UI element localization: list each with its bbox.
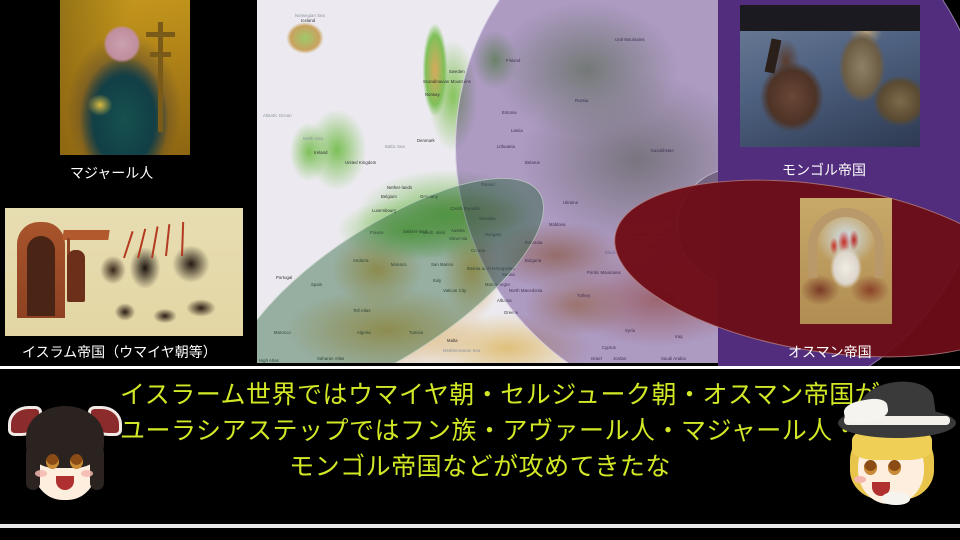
map-label-country: Monte-negro [485, 282, 510, 287]
map-label-country: Iceland [301, 18, 315, 23]
map-label-country: Moldova [549, 222, 566, 227]
map-label-country: Bosnia and Herzegovina [467, 266, 515, 271]
map-label-mountains: Pontic Mountains [587, 270, 621, 275]
eye-right [70, 454, 83, 469]
subtitle-bar: イスラーム世界ではウマイヤ朝・セルジューク朝・オスマン帝国が ユーラシアステップ… [0, 369, 960, 524]
spear-icon [165, 224, 170, 256]
subtitle-line-1: イスラーム世界ではウマイヤ朝・セルジューク朝・オスマン帝国が [120, 377, 840, 413]
map-label-country: Croatia [471, 248, 485, 253]
photo-top-shadow [740, 5, 920, 31]
map-label-country: Ukraine [563, 200, 578, 205]
horse-mane-shape [765, 38, 782, 73]
map-label-country: Nether-lands [387, 185, 412, 190]
map-label-country: Albania [497, 298, 512, 303]
map-label-country: Luxembourg [372, 208, 396, 213]
map-label-country: Spain [311, 282, 322, 287]
patriarchal-cross-icon [158, 22, 163, 132]
map-label-country: Kazakhstan [651, 148, 674, 153]
islamic-empire-manuscript-image[interactable] [5, 208, 243, 336]
magyar-king-portrait-image[interactable] [60, 0, 190, 155]
figure-shape [67, 250, 85, 302]
spear-icon [151, 226, 159, 258]
map-label-country: Turkey [577, 293, 590, 298]
blush-left [854, 476, 866, 483]
eye-left [864, 460, 877, 475]
map-label-country: Lithuania [497, 144, 515, 149]
map-label-sea: Atlantic Ocean [263, 113, 292, 118]
map-label-country: Czech Republic [450, 206, 481, 211]
map-label-country: Italy [433, 278, 441, 283]
blush-right [81, 470, 93, 477]
spear-icon [123, 231, 134, 258]
map-label-country: Algeria [357, 330, 371, 335]
caption-mongol: モンゴル帝国 [782, 160, 866, 180]
side-hair-left [26, 446, 40, 490]
map-label-country: Serbia [502, 272, 515, 277]
caption-islam: イスラム帝国（ウマイヤ朝等） [22, 342, 217, 362]
arch-inner-shape [27, 236, 55, 316]
map-label-country: France [370, 230, 384, 235]
map-label-country: Malta [447, 338, 458, 343]
blush-left [35, 470, 47, 477]
map-label-country: Tunisia [409, 330, 423, 335]
map-label-mountains: Ural Mountains [615, 37, 645, 42]
map-label-country: Morocco [274, 330, 291, 335]
map-label-country: Ireland [314, 150, 328, 155]
map-label-country: Hungary [485, 232, 502, 237]
map-label-country: Russia [575, 98, 588, 103]
hair-ribbon-icon [882, 492, 910, 505]
eye-left [46, 454, 59, 469]
map-label-country: Belgium [381, 194, 397, 199]
map-label-country: Estonia [502, 110, 517, 115]
caption-ottoman: オスマン帝国 [788, 342, 872, 362]
map-label-country: Latvia [511, 128, 523, 133]
map-label-country: Monaco [391, 262, 407, 267]
eye-right [888, 460, 901, 475]
map-label-country: Norway [425, 92, 440, 97]
spear-icon [181, 222, 184, 256]
cross-bar-lower [150, 52, 171, 57]
map-label-country: North Macedonia [509, 288, 542, 293]
map-label-country: Germany [420, 194, 438, 199]
reimu-yukkuri-face [8, 392, 120, 512]
ottoman-conquest-painting-image[interactable] [800, 198, 892, 324]
subtitle-line-3: モンゴル帝国などが攻めてきたな [120, 449, 840, 485]
map-label-country: Saudi Arabia [661, 356, 686, 361]
europe-topographic-map[interactable]: Norwegian Sea Atlantic Ocean North Sea B… [257, 0, 718, 363]
subtitle-line-2: ユーラシアステップではフン族・アヴァール人・マジャール人・ [120, 413, 840, 449]
map-label-sea: Mediterranean Sea [443, 348, 480, 353]
mongol-warrior-statue-image[interactable] [740, 5, 920, 147]
map-label-country: San Marino [431, 262, 453, 267]
side-hair-right [90, 446, 104, 490]
map-label-country: Andorra [353, 258, 369, 263]
map-label-country: Greece [504, 310, 518, 315]
map-label-country: Liech. stein [423, 230, 445, 235]
map-label-country: Israel [591, 356, 602, 361]
spear-icon [137, 229, 146, 259]
subtitle-text-block: イスラーム世界ではウマイヤ朝・セルジューク朝・オスマン帝国が ユーラシアステップ… [120, 377, 840, 485]
map-label-country: Belarus [525, 160, 540, 165]
marisa-yukkuri-face [838, 386, 956, 512]
map-label-country: Sweden [449, 69, 465, 74]
map-label-country: Slove-nia [449, 236, 467, 241]
map-label-mountains: Saharan Atlas [317, 356, 344, 361]
map-label-country: Portugal [276, 275, 292, 280]
map-label-country: Jordan [613, 356, 626, 361]
map-label-country: Iraq [675, 334, 683, 339]
divider-line-bottom [0, 524, 960, 528]
cross-bar-upper [146, 32, 175, 37]
map-label-country: Bulgaria [525, 258, 541, 263]
map-label-country: Austria [451, 228, 465, 233]
caption-magyar: マジャール人 [70, 163, 153, 183]
map-label-country: Cyprus [602, 345, 616, 350]
map-label-mountains: Scandinavian Mountains [423, 79, 471, 84]
map-label-sea: Baltic Sea [385, 144, 405, 149]
map-label-country: Slovakia [479, 216, 496, 221]
map-label-mountains: High Atlas [259, 358, 279, 363]
map-label-country: United Kingdom [345, 160, 376, 165]
map-label-mountains: Tell Atlas [353, 308, 371, 313]
map-label-country: Denmark [417, 138, 435, 143]
map-label-country: Vatican City [443, 288, 466, 293]
map-label-country: Syria [625, 328, 635, 333]
map-label-country: Poland [481, 182, 495, 187]
map-label-country: Romania [525, 240, 542, 245]
slide-stage: Norwegian Sea Atlantic Ocean North Sea B… [0, 0, 960, 540]
map-label-sea: North Sea [303, 136, 323, 141]
map-label-country: Finland [506, 58, 520, 63]
gate-arch-shape [808, 208, 884, 278]
